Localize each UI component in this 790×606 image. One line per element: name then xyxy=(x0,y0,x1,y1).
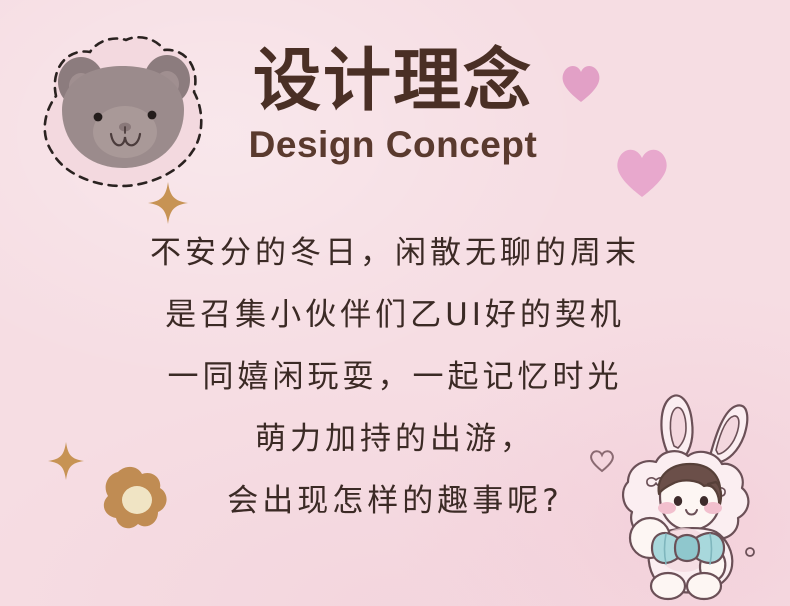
page-title-block: 设计理念 Design Concept xyxy=(228,46,558,166)
kid-in-bunny-hoodie-icon xyxy=(612,388,784,606)
page-title: 设计理念 xyxy=(228,46,558,117)
heart-icon xyxy=(558,60,604,106)
design-concept-poster: 设计理念 Design Concept 不安分的冬日，闲 xyxy=(0,0,790,606)
page-subtitle: Design Concept xyxy=(228,125,558,166)
bear-face-sticker-icon xyxy=(28,30,213,195)
copy-line: 是召集小伙伴们乙UI好的契机 xyxy=(0,284,790,346)
heart-icon xyxy=(612,142,672,202)
copy-line: 不安分的冬日，闲散无聊的周末 xyxy=(0,222,790,284)
